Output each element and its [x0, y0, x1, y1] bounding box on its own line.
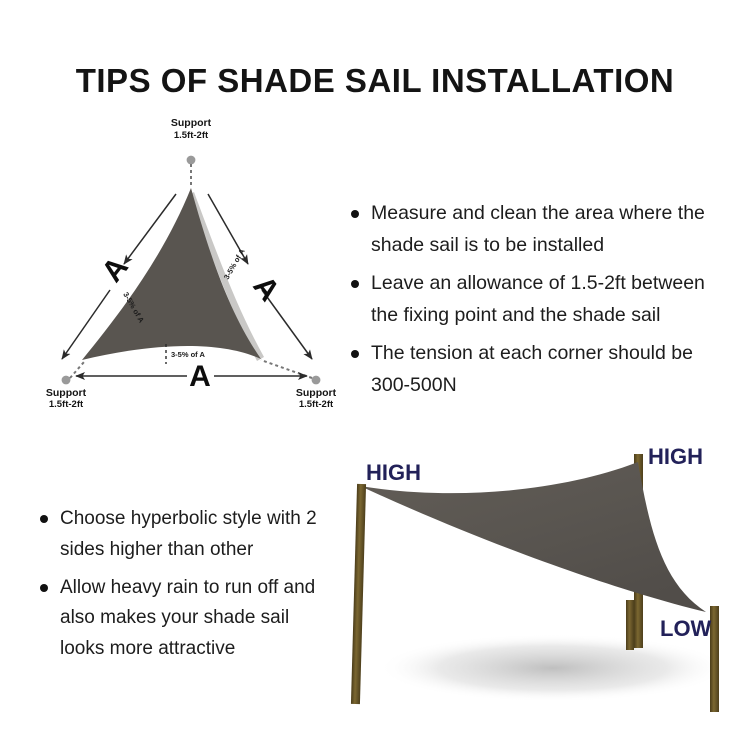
anchor-dot-bottom-right	[312, 376, 321, 385]
anchor-dot-top	[187, 156, 196, 165]
post-label-right-front: LOW	[660, 616, 712, 641]
anchor-dot-bottom-left	[62, 376, 71, 385]
support-label-bottom-left: Support	[46, 387, 87, 399]
hyperbolic-style-list: Choose hyperbolic style with 2 sides hig…	[38, 504, 338, 672]
support-distance-bottom-right: 1.5ft-2ft	[299, 399, 334, 407]
list-item: Leave an allowance of 1.5-2ft between th…	[349, 268, 731, 331]
infographic-page: TIPS OF SHADE SAIL INSTALLATION Support	[0, 0, 750, 750]
list-item: Allow heavy rain to run off and also mak…	[38, 573, 338, 665]
support-distance-top: 1.5ft-2ft	[174, 130, 209, 141]
list-item: The tension at each corner should be 300…	[349, 338, 731, 401]
dimension-letter-right: A	[246, 270, 285, 307]
list-item: Measure and clean the area where the sha…	[349, 198, 731, 261]
post-label-right-back: HIGH	[648, 444, 703, 469]
triangle-shade-sail-diagram: Support 1.5ft-2ft Support 1.5ft-2ft Supp…	[24, 112, 354, 407]
hyperbolic-sail-diagram: HIGH HIGH LOW	[338, 428, 740, 728]
support-label-top: Support	[171, 117, 212, 129]
ground-shadow	[378, 634, 728, 702]
dimension-letter-bottom: A	[189, 360, 211, 393]
curve-label-bottom: 3-5% of A	[171, 350, 205, 359]
support-label-bottom-right: Support	[296, 387, 337, 399]
dimension-arrow-right-lower	[262, 290, 312, 359]
installation-tips-list: Measure and clean the area where the sha…	[349, 198, 731, 408]
post-middle-back	[626, 600, 634, 650]
support-distance-bottom-left: 1.5ft-2ft	[49, 399, 84, 407]
post-left	[351, 484, 366, 704]
post-right-front	[710, 606, 719, 712]
list-item: Choose hyperbolic style with 2 sides hig…	[38, 504, 338, 566]
post-label-left: HIGH	[366, 460, 421, 485]
page-title: TIPS OF SHADE SAIL INSTALLATION	[0, 62, 750, 100]
curve-label-right: 3-5% of A	[222, 247, 247, 281]
